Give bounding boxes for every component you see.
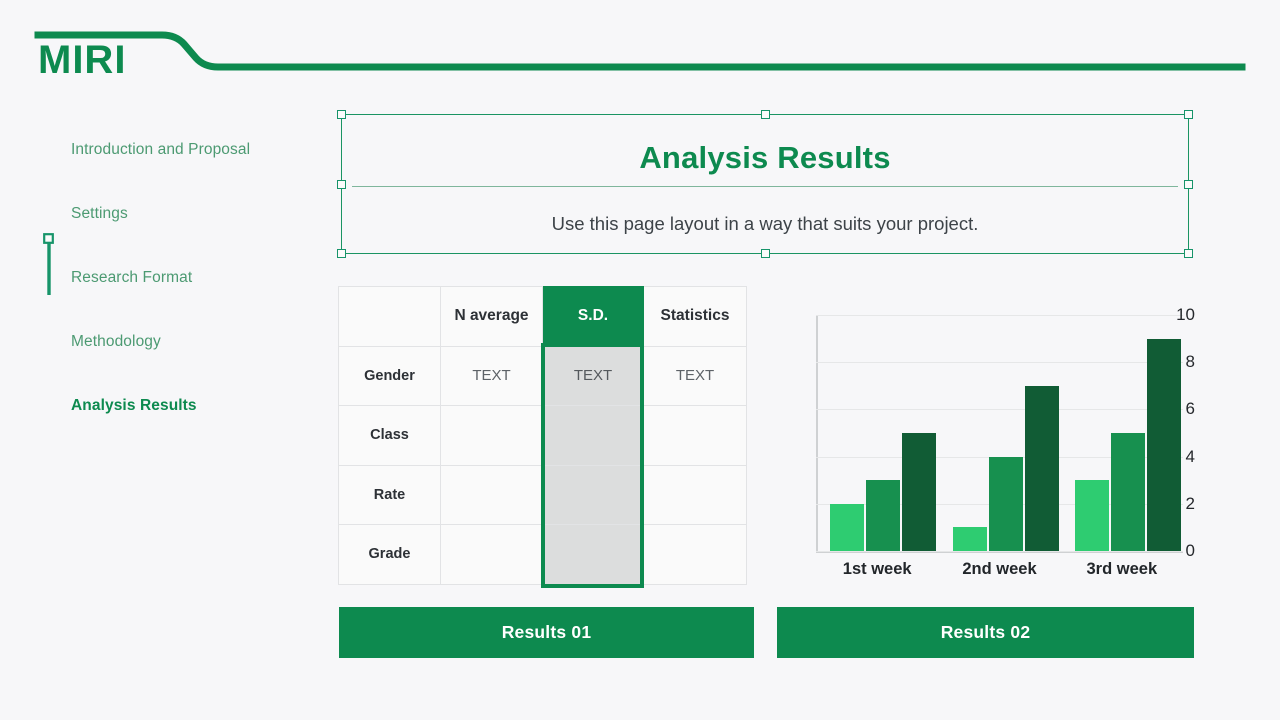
resize-handle-middle-right[interactable] <box>1184 180 1193 189</box>
column-header-sd[interactable]: S.D. <box>543 287 644 347</box>
chart-bar <box>1111 433 1145 551</box>
header-decorative-rule <box>0 0 1280 110</box>
cell-grade-sd[interactable] <box>543 525 644 585</box>
sidebar-item-label: Research Format <box>71 269 192 287</box>
resize-handle-top-center[interactable] <box>761 110 770 119</box>
table-row: Grade <box>339 525 747 585</box>
chart-bar <box>989 457 1023 551</box>
cell-rate-n-average[interactable] <box>441 465 543 525</box>
results-bar-chart: 0246810 1st week2nd week3rd week <box>770 296 1195 588</box>
results-01-label: Results 01 <box>502 622 592 643</box>
title-text-block[interactable]: Analysis Results Use this page layout in… <box>341 114 1189 254</box>
resize-handle-bottom-left[interactable] <box>337 249 346 258</box>
cell-class-statistics[interactable] <box>644 406 747 466</box>
cell-rate-statistics[interactable] <box>644 465 747 525</box>
cell-gender-n-average[interactable]: TEXT <box>441 346 543 406</box>
column-header-n-average[interactable]: N average <box>441 287 543 347</box>
resize-handle-middle-left[interactable] <box>337 180 346 189</box>
page-subtitle: Use this page layout in a way that suits… <box>342 213 1188 235</box>
table-corner-cell <box>339 287 441 347</box>
results-01-button[interactable]: Results 01 <box>339 607 754 658</box>
table-row: Gender TEXT TEXT TEXT <box>339 346 747 406</box>
chart-bar <box>953 527 987 551</box>
chart-y-axis <box>816 315 818 552</box>
results-02-label: Results 02 <box>941 622 1031 643</box>
row-header-gender: Gender <box>339 346 441 406</box>
sidebar-item-methodology[interactable]: Methodology <box>0 310 330 374</box>
cell-grade-statistics[interactable] <box>644 525 747 585</box>
chart-x-tick-label: 3rd week <box>1061 560 1183 579</box>
chart-bar <box>1025 386 1059 551</box>
chart-bar <box>1075 480 1109 551</box>
chart-bar <box>902 433 936 551</box>
chart-gridline <box>816 551 1183 552</box>
sidebar-item-introduction-and-proposal[interactable]: Introduction and Proposal <box>0 118 330 182</box>
active-item-marker-icon <box>42 232 56 296</box>
cell-class-sd[interactable] <box>543 406 644 466</box>
sidebar-item-analysis-results[interactable]: Analysis Results <box>0 374 330 438</box>
cell-rate-sd[interactable] <box>543 465 644 525</box>
chart-gridline <box>816 315 1183 316</box>
row-header-rate: Rate <box>339 465 441 525</box>
cell-grade-n-average[interactable] <box>441 525 543 585</box>
sidebar-item-label: Methodology <box>71 333 161 351</box>
chart-bar <box>866 480 900 551</box>
row-header-class: Class <box>339 406 441 466</box>
results-table-wrapper: N average S.D. Statistics Gender TEXT TE… <box>338 286 746 588</box>
chart-bar <box>1147 339 1181 551</box>
resize-handle-top-right[interactable] <box>1184 110 1193 119</box>
resize-handle-top-left[interactable] <box>337 110 346 119</box>
slide-canvas: MIRI Introduction and Proposal Settings … <box>0 0 1280 720</box>
sidebar-item-label: Settings <box>71 205 128 223</box>
cell-gender-sd[interactable]: TEXT <box>543 346 644 406</box>
cell-gender-statistics[interactable]: TEXT <box>644 346 747 406</box>
cell-class-n-average[interactable] <box>441 406 543 466</box>
chart-gridline <box>816 362 1183 363</box>
resize-handle-bottom-center[interactable] <box>761 249 770 258</box>
table-header-row: N average S.D. Statistics <box>339 287 747 347</box>
chart-bar <box>830 504 864 551</box>
table-row: Rate <box>339 465 747 525</box>
chart-y-tick-label: 10 <box>1169 305 1195 325</box>
sidebar-item-label: Analysis Results <box>71 397 197 415</box>
table-row: Class <box>339 406 747 466</box>
results-02-button[interactable]: Results 02 <box>777 607 1194 658</box>
chart-gridline <box>816 409 1183 410</box>
resize-handle-bottom-right[interactable] <box>1184 249 1193 258</box>
results-table: N average S.D. Statistics Gender TEXT TE… <box>338 286 747 585</box>
title-divider <box>352 186 1178 187</box>
row-header-grade: Grade <box>339 525 441 585</box>
app-logo: MIRI <box>38 40 126 80</box>
chart-x-tick-label: 2nd week <box>938 560 1060 579</box>
page-title: Analysis Results <box>342 140 1188 176</box>
column-header-statistics[interactable]: Statistics <box>644 287 747 347</box>
sidebar-item-label: Introduction and Proposal <box>71 141 250 159</box>
chart-x-tick-label: 1st week <box>816 560 938 579</box>
